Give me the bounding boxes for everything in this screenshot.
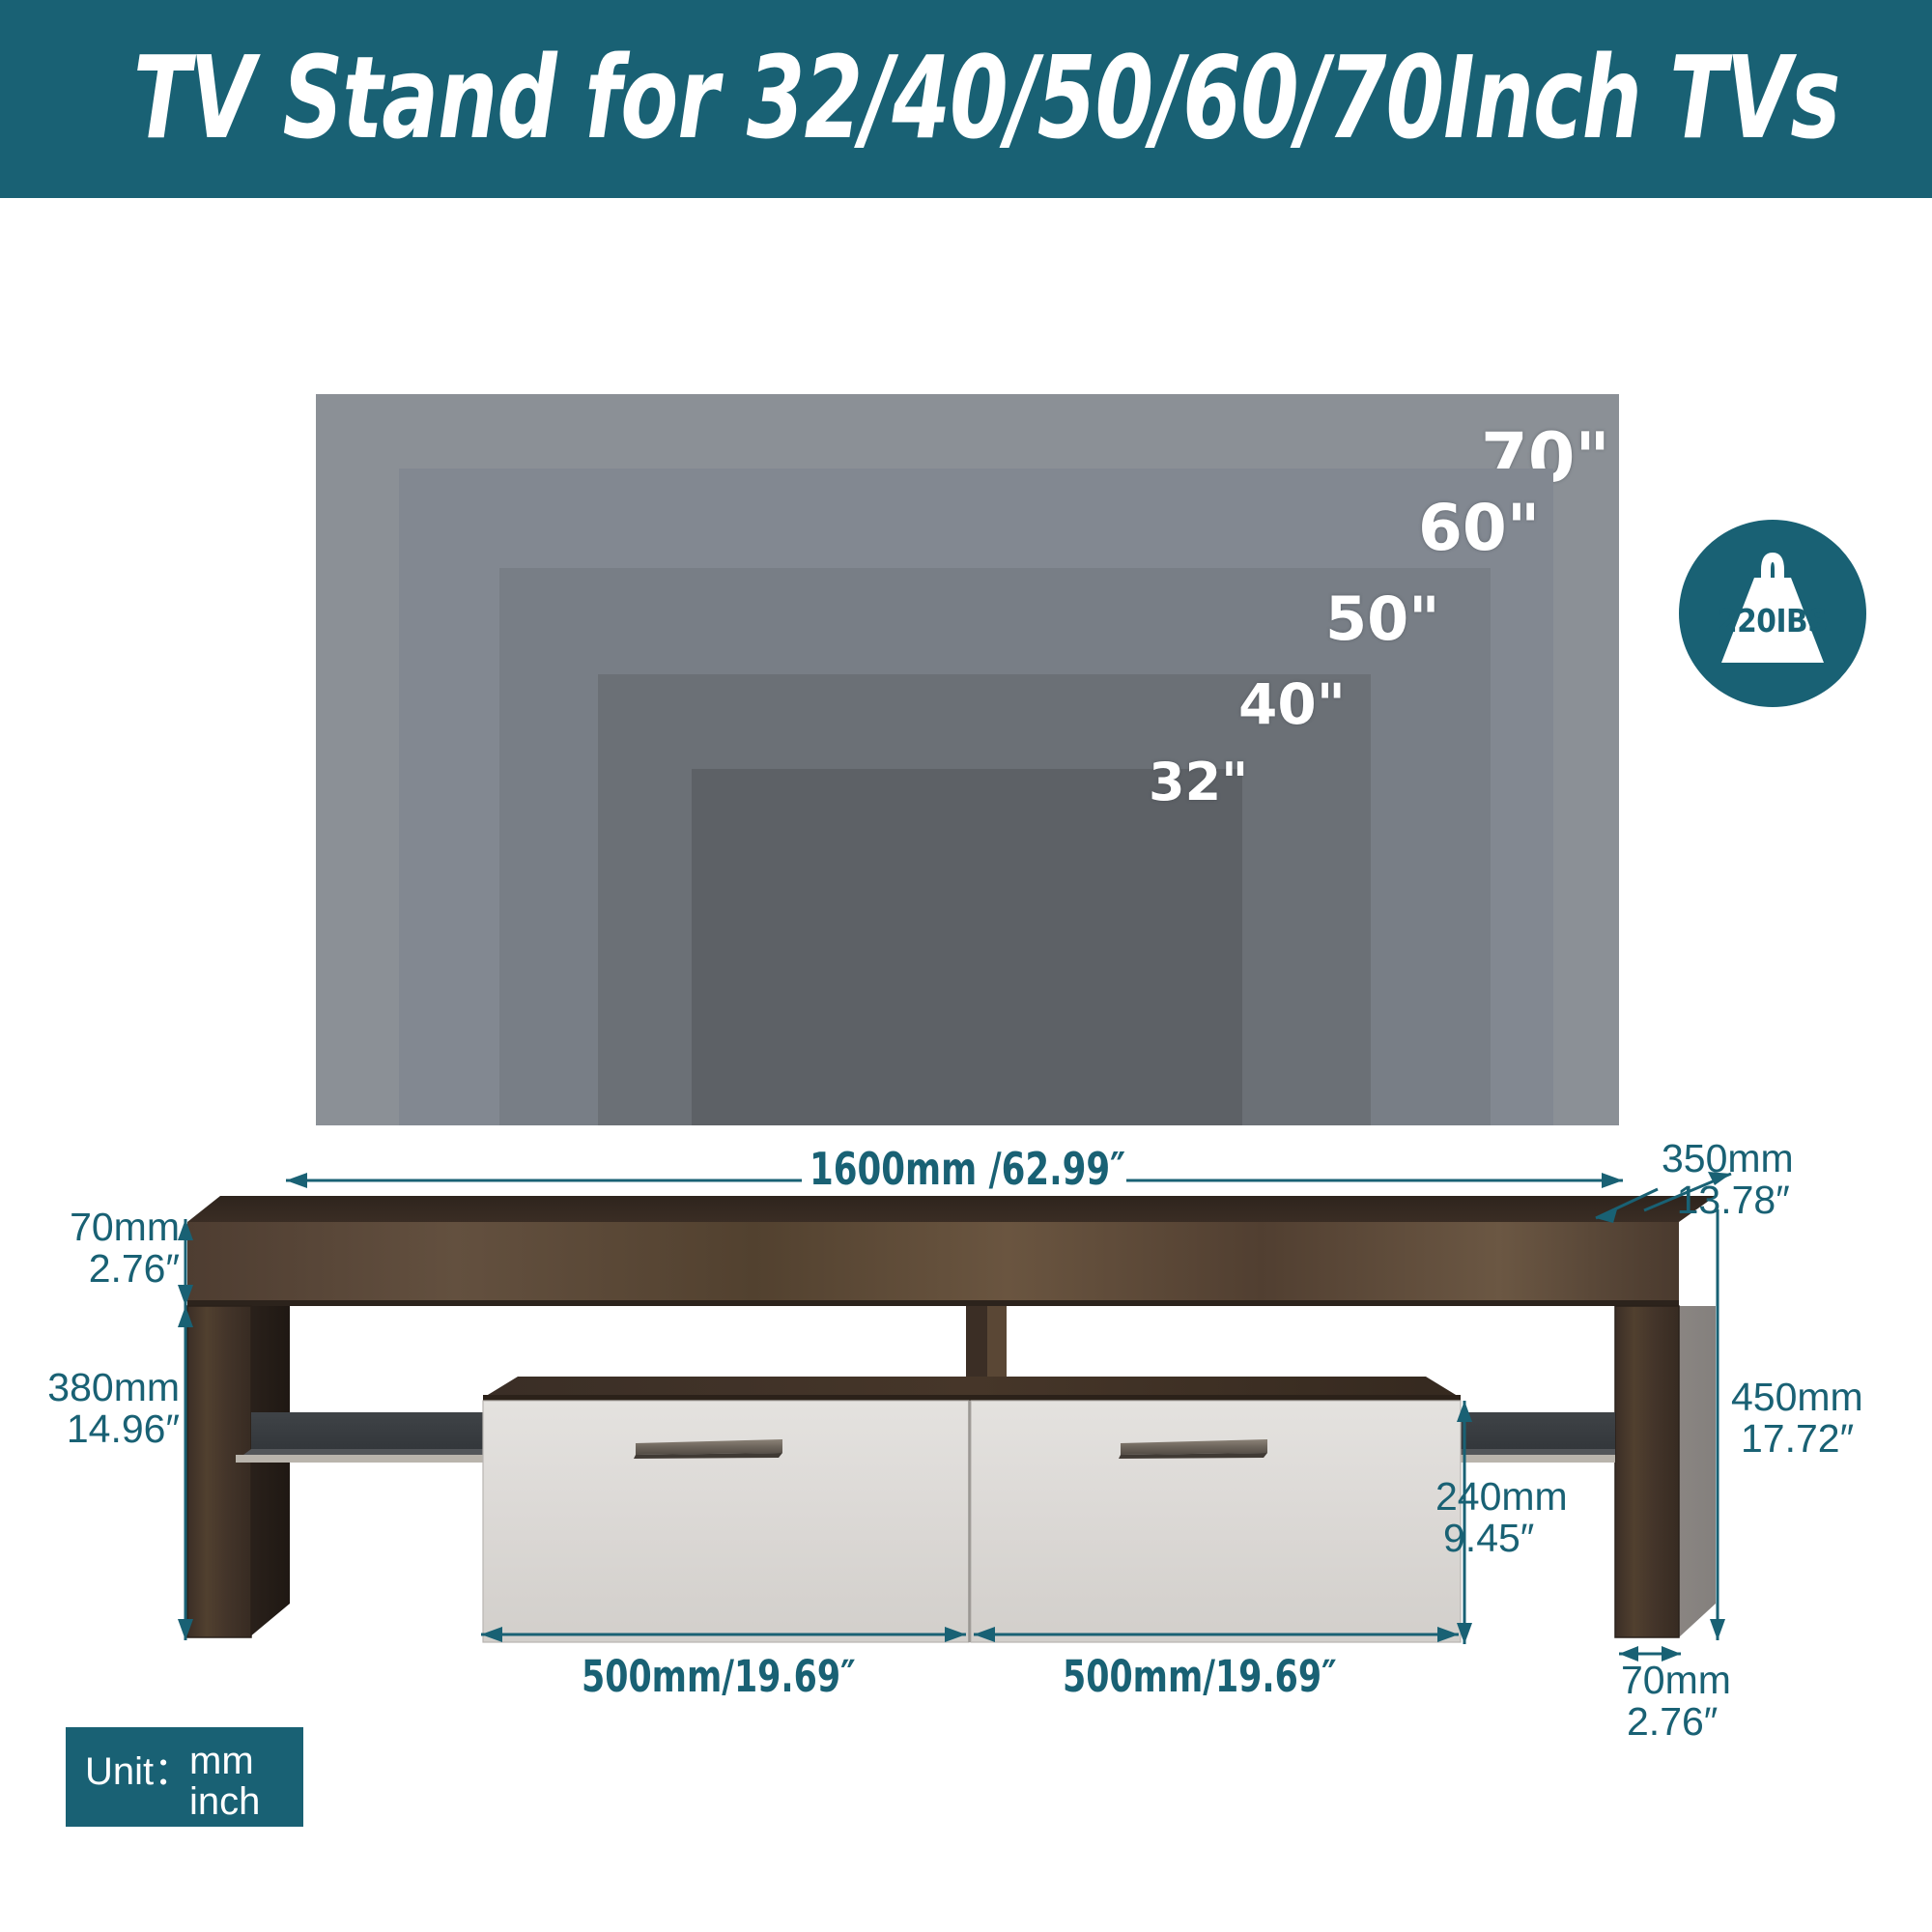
tv-rect-32 bbox=[692, 769, 1242, 1125]
dimension-depth-line1: 350mm bbox=[1662, 1138, 1794, 1179]
header-banner: TV Stand for 32/40/50/60/70Inch TVs bbox=[0, 0, 1932, 198]
dimension-depth: 350mm 13.78″ bbox=[1662, 1138, 1794, 1221]
dimension-drawer-height: 240mm 9.45″ bbox=[1435, 1476, 1568, 1559]
dimension-drawer-left: 500mm/19.69″ bbox=[582, 1654, 856, 1699]
dimension-leg-width: 70mm 2.76″ bbox=[1621, 1660, 1731, 1743]
unit-legend-box: Unit： mm inch bbox=[66, 1727, 303, 1827]
dimension-drawer-right: 500mm/19.69″ bbox=[1063, 1654, 1337, 1699]
unit-mm-text: mm bbox=[189, 1740, 254, 1783]
dimension-drawer-left-line1: 500mm/19.69″ bbox=[582, 1654, 856, 1699]
dimension-total-height-line1: 450mm bbox=[1731, 1377, 1863, 1418]
weight-badge-text: 220IBS bbox=[1679, 602, 1866, 639]
dimension-leg-height-line2: 14.96″ bbox=[44, 1408, 180, 1450]
dimension-depth-line2: 13.78″ bbox=[1662, 1179, 1794, 1221]
tv-label-40: 40" bbox=[1238, 671, 1346, 737]
dimension-leg-height: 380mm 14.96″ bbox=[44, 1367, 180, 1450]
dimension-total-height-line2: 17.72″ bbox=[1731, 1418, 1863, 1460]
dimension-drawer-height-line1: 240mm bbox=[1435, 1476, 1568, 1518]
dimension-drawer-height-line2: 9.45″ bbox=[1435, 1518, 1568, 1559]
dimension-top-thickness-line2: 2.76″ bbox=[58, 1248, 180, 1290]
page-title: TV Stand for 32/40/50/60/70Inch TVs bbox=[133, 15, 1840, 180]
dimension-leg-width-line2: 2.76″ bbox=[1621, 1701, 1731, 1743]
tv-size-diagram: 70" 60" 50" 40" 32" bbox=[316, 394, 1619, 1125]
tv-label-50: 50" bbox=[1325, 583, 1440, 654]
dimension-top-thickness: 70mm 2.76″ bbox=[58, 1207, 180, 1290]
dimension-width-top: 1600mm /62.99″ bbox=[810, 1146, 1125, 1192]
dimension-drawer-right-line1: 500mm/19.69″ bbox=[1063, 1654, 1337, 1699]
dimension-total-height: 450mm 17.72″ bbox=[1731, 1377, 1863, 1460]
unit-label: Unit： bbox=[85, 1740, 192, 1796]
dimension-width-top-line1: 1600mm /62.99″ bbox=[810, 1146, 1125, 1192]
dimension-top-thickness-line1: 70mm bbox=[58, 1207, 180, 1248]
tv-label-60: 60" bbox=[1418, 491, 1540, 565]
weight-capacity-badge: 220IBS bbox=[1679, 520, 1866, 707]
dimension-leg-width-line1: 70mm bbox=[1621, 1660, 1731, 1701]
unit-inch-text: inch bbox=[189, 1780, 260, 1824]
dimension-leg-height-line1: 380mm bbox=[44, 1367, 180, 1408]
tv-label-32: 32" bbox=[1149, 752, 1248, 812]
